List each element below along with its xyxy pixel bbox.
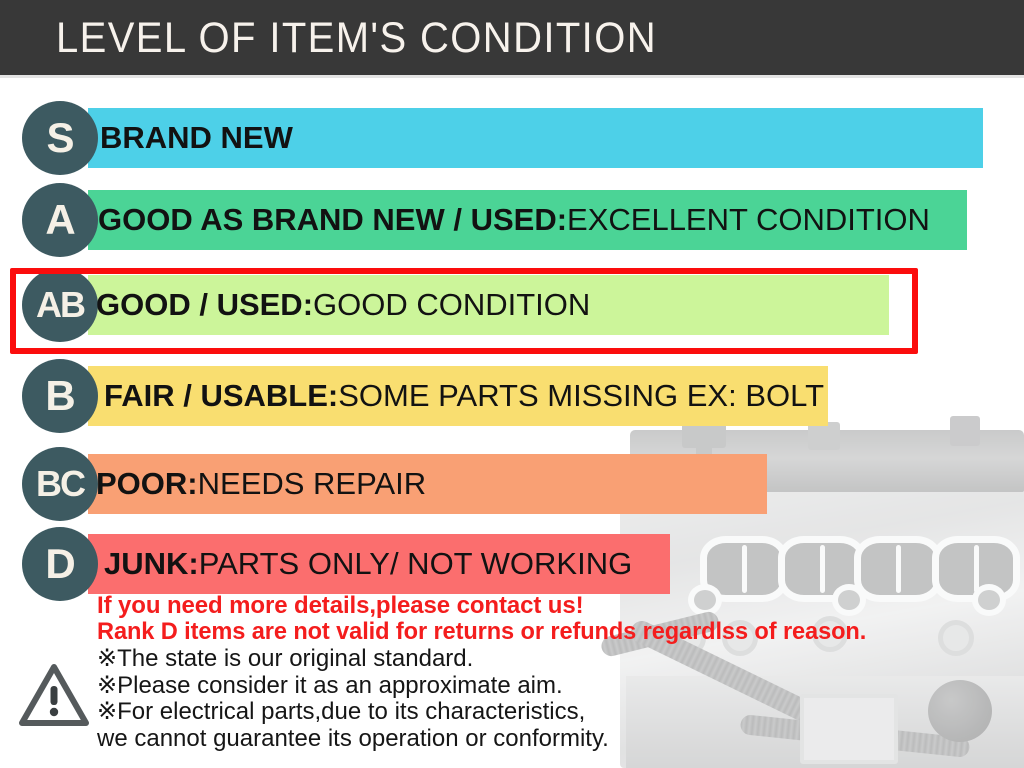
rank-bold-text: BRAND NEW — [100, 120, 293, 156]
rank-text-s: BRAND NEW — [100, 108, 293, 168]
rank-badge-label: S — [46, 114, 73, 162]
notice-black-line-1: ※The state is our original standard. — [97, 646, 1002, 673]
page-title: LEVEL OF ITEM'S CONDITION — [56, 14, 657, 63]
rank-text-d: JUNK: PARTS ONLY/ NOT WORKING — [104, 534, 632, 594]
rank-badge-d: D — [22, 527, 98, 601]
rank-bold-text: FAIR / USABLE: — [104, 378, 338, 414]
rank-badge-s: S — [22, 101, 98, 175]
rank-text-bc: POOR: NEEDS REPAIR — [96, 454, 426, 514]
notice-black-line-4: we cannot guarantee its operation or con… — [97, 726, 1002, 753]
rank-normal-text: SOME PARTS MISSING EX: BOLT — [338, 378, 824, 414]
rank-badge-label: D — [45, 540, 74, 588]
rank-badge-ab: AB — [22, 268, 98, 342]
rank-normal-text: GOOD CONDITION — [313, 287, 590, 323]
rank-badge-label: B — [45, 372, 74, 420]
rank-badge-label: BC — [36, 463, 84, 505]
rank-bold-text: GOOD AS BRAND NEW / USED: — [98, 202, 567, 238]
rank-normal-text: EXCELLENT CONDITION — [567, 202, 930, 238]
rank-badge-a: A — [22, 183, 98, 257]
rank-text-b: FAIR / USABLE: SOME PARTS MISSING EX: BO… — [104, 366, 824, 426]
rank-badge-label: AB — [36, 284, 84, 326]
rank-text-ab: GOOD / USED: GOOD CONDITION — [96, 275, 590, 335]
rank-normal-text: PARTS ONLY/ NOT WORKING — [199, 546, 633, 582]
notice-black-line-3: ※For electrical parts,due to its charact… — [97, 699, 1002, 726]
rank-bold-text: POOR: — [96, 466, 198, 502]
rank-badge-bc: BC — [22, 447, 98, 521]
header-bar: LEVEL OF ITEM'S CONDITION — [0, 0, 1024, 75]
rank-badge-b: B — [22, 359, 98, 433]
warning-triangle-icon — [18, 662, 90, 728]
condition-grade-chart: LEVEL OF ITEM'S CONDITION S BRAND NEW A … — [0, 0, 1024, 768]
rank-bold-text: JUNK: — [104, 546, 199, 582]
notice-red-line-1: If you need more details,please contact … — [97, 592, 1002, 619]
rank-text-a: GOOD AS BRAND NEW / USED: EXCELLENT COND… — [98, 190, 930, 250]
notice-red-line-2: Rank D items are not valid for returns o… — [97, 619, 1002, 646]
notice-black-line-2: ※Please consider it as an approximate ai… — [97, 673, 1002, 700]
header-divider — [0, 75, 1024, 78]
rank-badge-label: A — [45, 196, 74, 244]
rank-normal-text: NEEDS REPAIR — [198, 466, 427, 502]
rank-bold-text: GOOD / USED: — [96, 287, 313, 323]
notice-block: If you need more details,please contact … — [97, 592, 1002, 752]
